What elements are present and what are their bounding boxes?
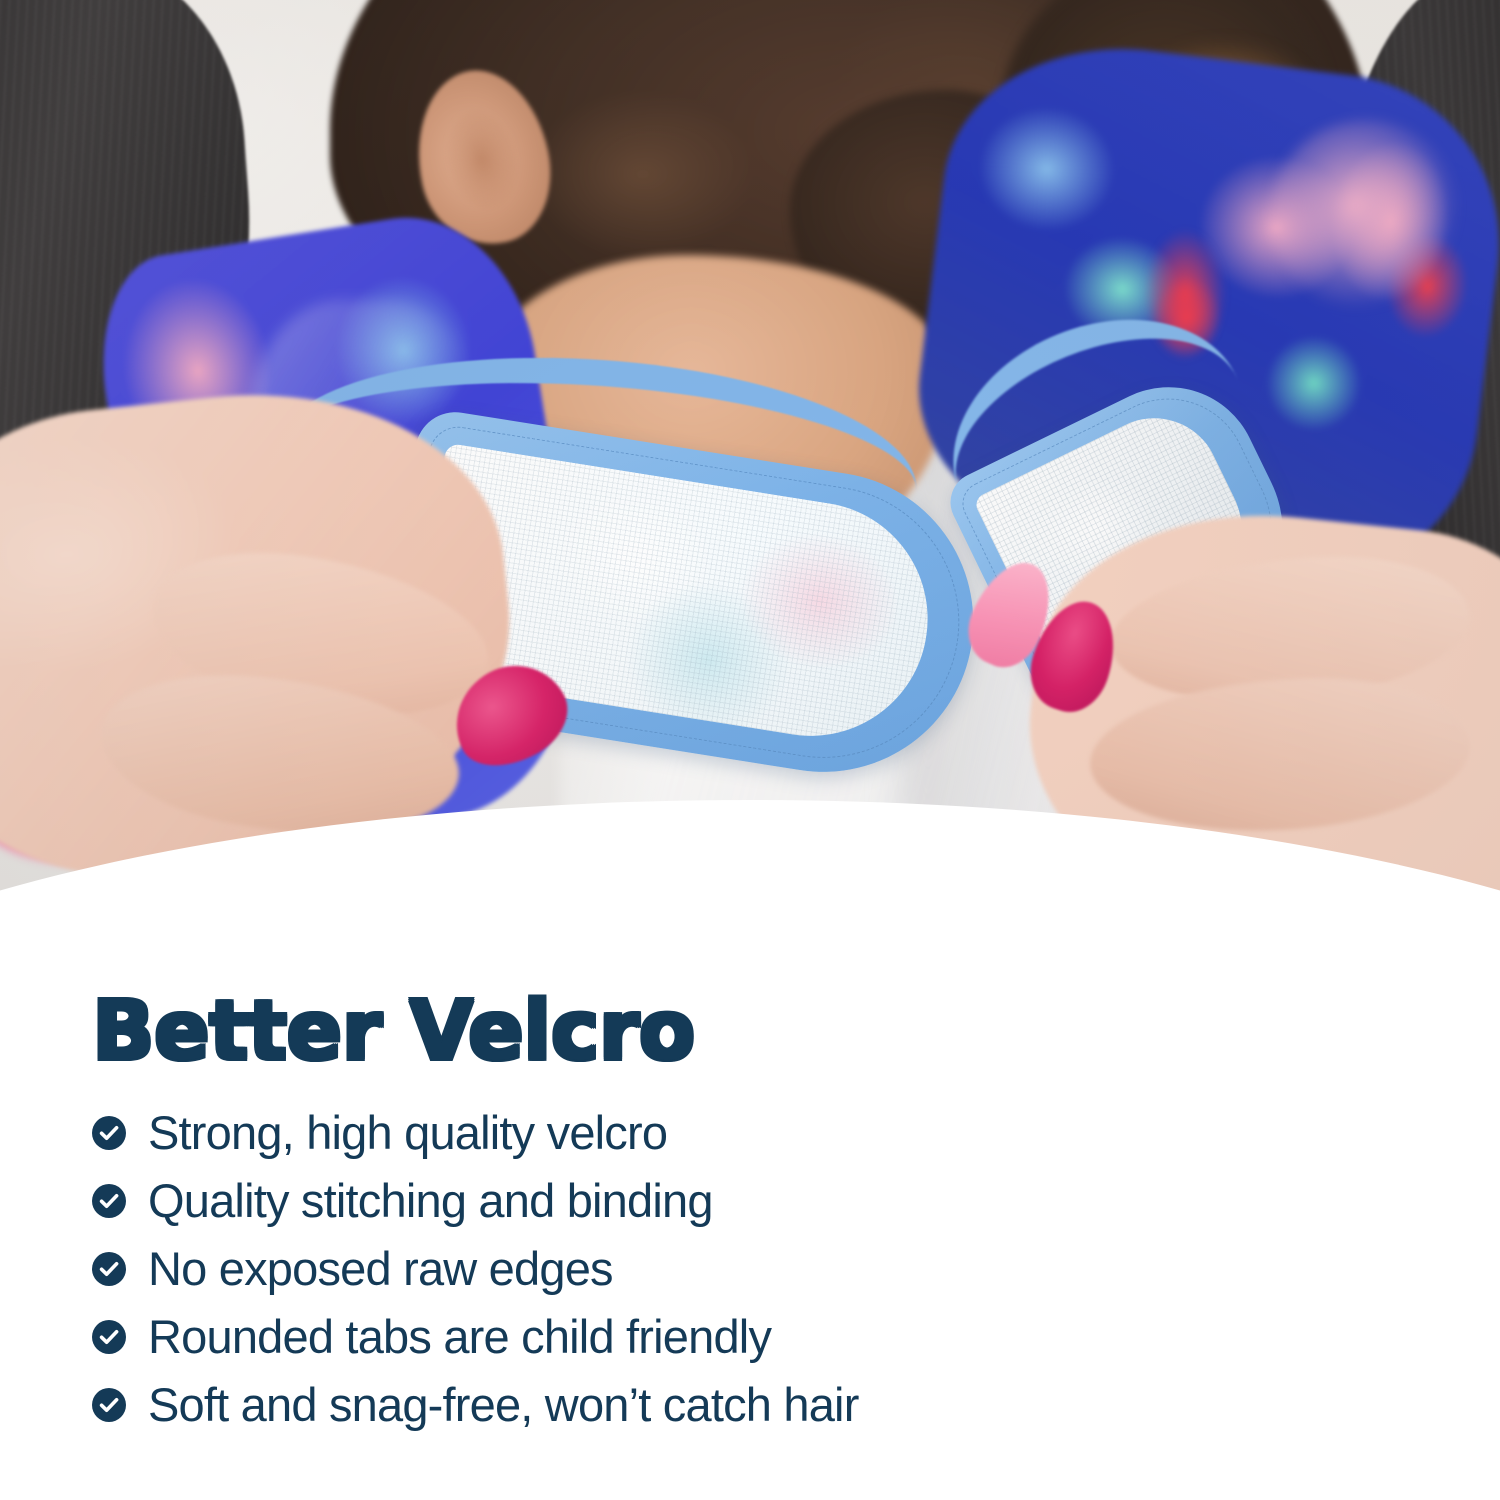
list-item: Soft and snag-free, won’t catch hair [92,1370,1412,1438]
feature-list: Strong, high quality velcro Quality stit… [92,1098,1412,1438]
marketing-image: Better Velcro Strong, high quality velcr… [0,0,1500,1500]
list-item: Rounded tabs are child friendly [92,1302,1412,1370]
check-circle-icon [92,1320,126,1354]
list-item: No exposed raw edges [92,1234,1412,1302]
list-item-label: Strong, high quality velcro [148,1109,667,1156]
list-item: Quality stitching and binding [92,1166,1412,1234]
list-item-label: No exposed raw edges [148,1245,613,1292]
page-title: Better Velcro [92,990,695,1074]
list-item-label: Rounded tabs are child friendly [148,1313,771,1360]
list-item-label: Soft and snag-free, won’t catch hair [148,1381,859,1428]
check-circle-icon [92,1116,126,1150]
check-circle-icon [92,1184,126,1218]
list-item: Strong, high quality velcro [92,1098,1412,1166]
text-content: Better Velcro Strong, high quality velcr… [0,0,1500,1500]
check-circle-icon [92,1252,126,1286]
check-circle-icon [92,1388,126,1422]
list-item-label: Quality stitching and binding [148,1177,713,1224]
